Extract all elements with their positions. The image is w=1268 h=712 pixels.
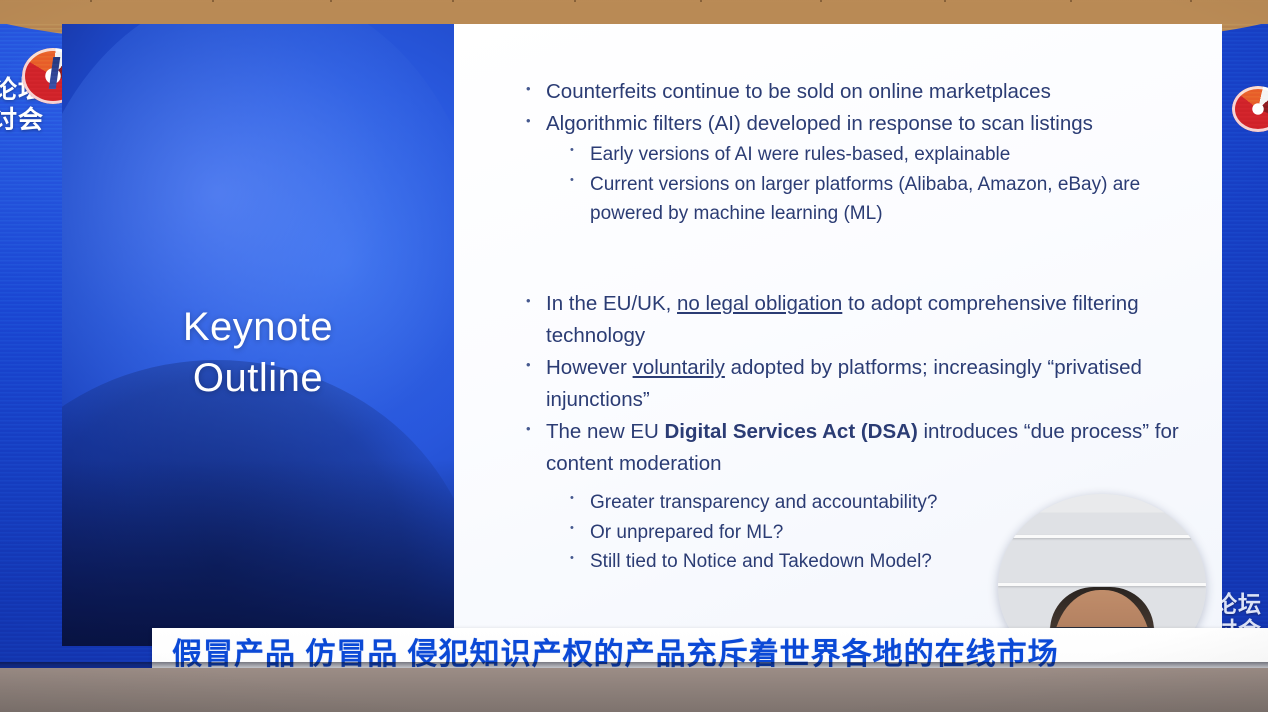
slide-title-panel: Keynote Outline (62, 24, 454, 646)
bullet-dot-icon: • (526, 294, 546, 307)
bullet-dot-icon: • (526, 358, 546, 371)
stage-floor (0, 668, 1268, 712)
slide-title-line1: Keynote (62, 302, 454, 353)
bullet-emphasis: Digital Services Act (DSA) (665, 420, 918, 443)
bullet-dot-icon: • (570, 523, 590, 534)
slide-title-line2: Outline (62, 353, 454, 404)
bullet-text: Early versions of AI were rules-based, e… (590, 140, 1190, 170)
bullet-dot-icon: • (570, 175, 590, 186)
bullet-emphasis: voluntarily (633, 356, 725, 379)
bullet-item: • Counterfeits continue to be sold on on… (526, 76, 1190, 108)
bullet-item: • Algorithmic filters (AI) developed in … (526, 108, 1190, 140)
bullet-text: Algorithmic filters (AI) developed in re… (546, 108, 1190, 140)
bullet-item: • However voluntarily adopted by platfor… (526, 352, 1190, 416)
bullet-item: • Early versions of AI were rules-based,… (570, 140, 1190, 170)
bullet-dot-icon: • (570, 145, 590, 156)
bullet-dot-icon: • (526, 82, 546, 95)
bullet-emphasis: no legal obligation (677, 292, 842, 315)
bullet-text: Counterfeits continue to be sold on onli… (546, 76, 1190, 108)
logo-swirl-right-edge-icon (1232, 86, 1268, 132)
bullet-item: • In the EU/UK, no legal obligation to a… (526, 288, 1190, 352)
bullet-dot-icon: • (570, 553, 590, 564)
bullet-item: • The new EU Digital Services Act (DSA) … (526, 416, 1190, 480)
bullet-text: Current versions on larger platforms (Al… (590, 170, 1190, 229)
bullet-group-a: • Counterfeits continue to be sold on on… (470, 76, 1190, 229)
bullet-item: • Current versions on larger platforms (… (570, 170, 1190, 229)
bullet-text: However voluntarily adopted by platforms… (546, 352, 1190, 416)
projected-slide: Keynote Outline • Counterfeits continue … (0, 24, 1222, 674)
bullet-text: In the EU/UK, no legal obligation to ado… (546, 288, 1190, 352)
bullet-dot-icon: • (570, 493, 590, 504)
bullet-text: The new EU Digital Services Act (DSA) in… (546, 416, 1190, 480)
bullet-dot-icon: • (526, 422, 546, 435)
slide-panel-gradient (62, 459, 454, 646)
bullet-dot-icon: • (526, 114, 546, 127)
bullet-group-b: • In the EU/UK, no legal obligation to a… (470, 288, 1190, 480)
slide-title: Keynote Outline (62, 302, 454, 404)
conference-room-stage: 论坛 讨会 知识产权南湖论坛 国际研讨会 文件主题创新驱动发展 改革开放 (0, 0, 1268, 712)
